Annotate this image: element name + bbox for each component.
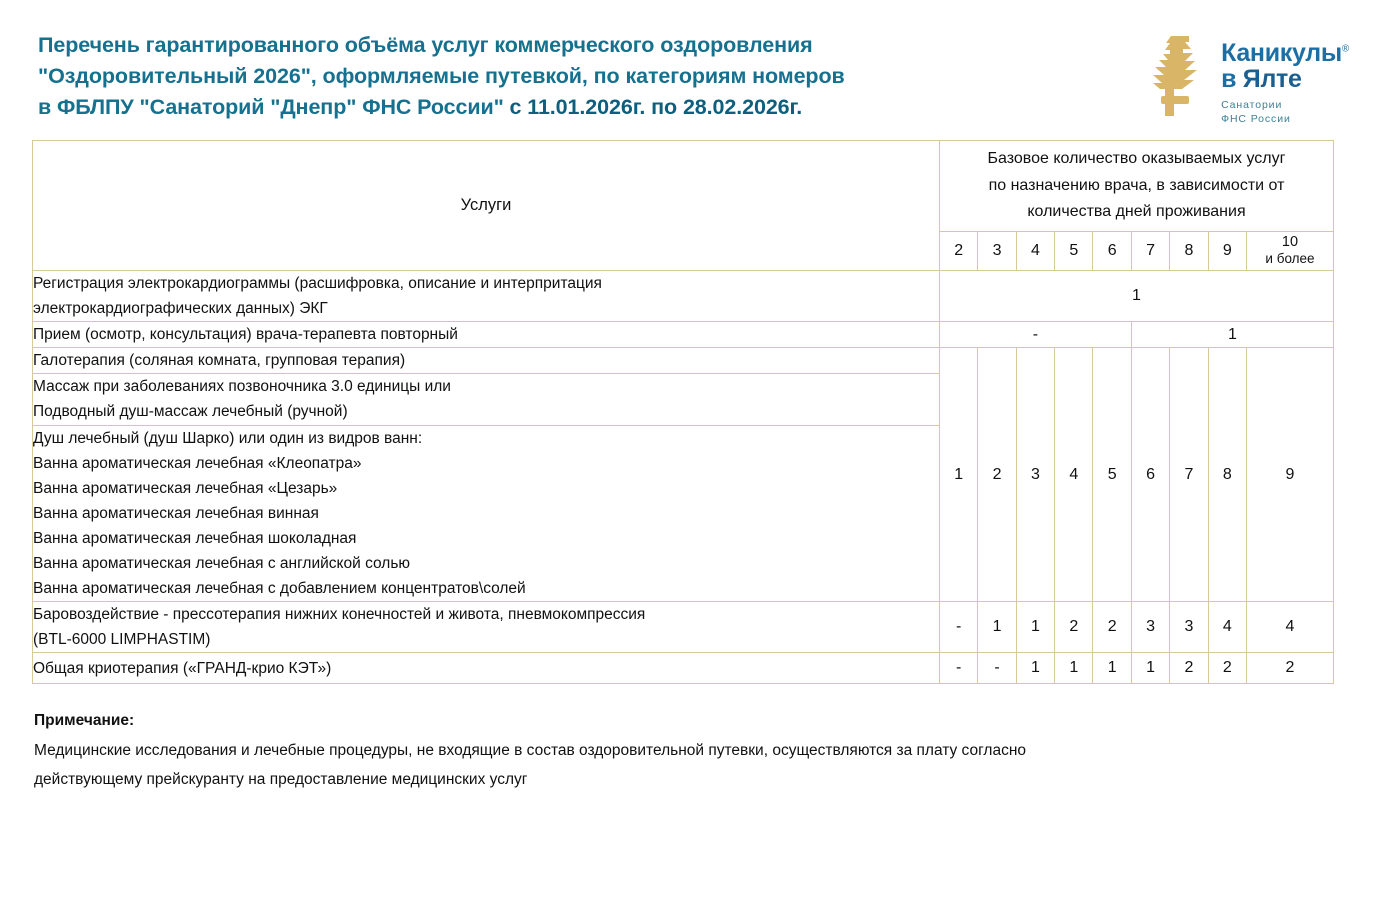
registered-trademark-icon: ® bbox=[1342, 44, 1349, 55]
value-cryotherapy-day-9: 2 bbox=[1208, 653, 1246, 684]
table-row: Прием (осмотр, консультация) врача-терап… bbox=[33, 322, 1334, 348]
value-cryotherapy-day-3: - bbox=[978, 653, 1016, 684]
logo-text: Каникулы® в Ялте Санатории ФНС России bbox=[1221, 34, 1349, 126]
value-ecg-all-days: 1 bbox=[939, 270, 1333, 321]
logo-line-2: в Ялте bbox=[1221, 66, 1349, 92]
column-header-services: Услуги bbox=[33, 140, 940, 270]
value-pressotherapy-day-5: 2 bbox=[1055, 602, 1093, 653]
service-name-therapist-repeat-line-1: Прием (осмотр, консультация) врача-терап… bbox=[33, 322, 939, 347]
footnote-title: Примечание: bbox=[34, 706, 1347, 735]
value-pressotherapy-day-10-plus: 4 bbox=[1246, 602, 1333, 653]
day-column-header-6: 6 bbox=[1093, 231, 1131, 270]
day-column-header-3: 3 bbox=[978, 231, 1016, 270]
day-column-header-10-top: 10 bbox=[1282, 234, 1298, 250]
services-table-container: Услуги Базовое количество оказываемых ус… bbox=[0, 126, 1377, 685]
service-name-ecg-line-2: электрокардиографических данных) ЭКГ bbox=[33, 296, 939, 321]
value-pressotherapy-day-6: 2 bbox=[1093, 602, 1131, 653]
table-header-row-top: Услуги Базовое количество оказываемых ус… bbox=[33, 140, 1334, 231]
service-name-baths: Душ лечебный (душ Шарко) или один из вид… bbox=[33, 425, 940, 602]
base-quantity-line-1: Базовое количество оказываемых услуг bbox=[940, 146, 1333, 172]
service-name-baths-line-7: Ванна ароматическая лечебная с добавлени… bbox=[33, 576, 939, 601]
day-column-header-4: 4 bbox=[1016, 231, 1054, 270]
day-column-header-10-bottom: и более bbox=[1247, 251, 1333, 268]
value-pressotherapy-day-3: 1 bbox=[978, 602, 1016, 653]
day-column-header-5: 5 bbox=[1055, 231, 1093, 270]
value-group-day-8: 7 bbox=[1170, 348, 1208, 602]
value-cryotherapy-day-6: 1 bbox=[1093, 653, 1131, 684]
footnote-line-2: действующему прейскуранту на предоставле… bbox=[34, 765, 1347, 794]
day-column-header-7: 7 bbox=[1131, 231, 1169, 270]
page-title-line-2: "Оздоровительный 2026", оформляемые путе… bbox=[38, 61, 845, 92]
value-pressotherapy-day-8: 3 bbox=[1170, 602, 1208, 653]
service-name-baths-line-2: Ванна ароматическая лечебная «Клеопатра» bbox=[33, 451, 939, 476]
logo-line-1: Каникулы® bbox=[1221, 40, 1349, 66]
value-group-day-4: 3 bbox=[1016, 348, 1054, 602]
day-column-header-8: 8 bbox=[1170, 231, 1208, 270]
value-cryotherapy-day-10-plus: 2 bbox=[1246, 653, 1333, 684]
page-title-line-3-prefix: в ФБЛПУ "Санаторий "Днепр" ФНС России" bbox=[38, 95, 510, 119]
page-title-line-3: в ФБЛПУ "Санаторий "Днепр" ФНС России" с… bbox=[38, 92, 845, 123]
value-pressotherapy-day-4: 1 bbox=[1016, 602, 1054, 653]
page-title-date-range: с 11.01.2026г. по 28.02.2026г. bbox=[510, 95, 803, 119]
service-name-spine-massage-line-2: Подводный душ-массаж лечебный (ручной) bbox=[33, 399, 939, 424]
logo-subtitle-line-1: Санатории bbox=[1221, 98, 1349, 112]
value-group-day-5: 4 bbox=[1055, 348, 1093, 602]
base-quantity-line-3: количества дней проживания bbox=[940, 199, 1333, 225]
service-name-ecg: Регистрация электрокардиограммы (расшифр… bbox=[33, 270, 940, 321]
table-row: Галотерапия (соляная комната, групповая … bbox=[33, 348, 1334, 374]
day-column-header-2: 2 bbox=[939, 231, 977, 270]
services-table: Услуги Базовое количество оказываемых ус… bbox=[32, 140, 1334, 685]
service-name-ecg-line-1: Регистрация электрокардиограммы (расшифр… bbox=[33, 271, 939, 296]
value-group-day-9: 8 bbox=[1208, 348, 1246, 602]
value-cryotherapy-day-4: 1 bbox=[1016, 653, 1054, 684]
service-name-pressotherapy: Баровоздействие - прессотерапия нижних к… bbox=[33, 602, 940, 653]
service-name-baths-line-6: Ванна ароматическая лечебная с английско… bbox=[33, 551, 939, 576]
table-row: Баровоздействие - прессотерапия нижних к… bbox=[33, 602, 1334, 653]
value-therapist-days-7-10: 1 bbox=[1131, 322, 1333, 348]
base-quantity-line-2: по назначению врача, в зависимости от bbox=[940, 173, 1333, 199]
value-group-day-2: 1 bbox=[939, 348, 977, 602]
cypress-tree-icon bbox=[1149, 34, 1211, 118]
service-name-cryotherapy-line-1: Общая криотерапия («ГРАНД-крио КЭТ») bbox=[33, 656, 939, 681]
service-name-cryotherapy: Общая криотерапия («ГРАНД-крио КЭТ») bbox=[33, 653, 940, 684]
service-name-spine-massage-line-1: Массаж при заболеваниях позвоночника 3.0… bbox=[33, 374, 939, 399]
value-cryotherapy-day-8: 2 bbox=[1170, 653, 1208, 684]
logo-subtitle: Санатории ФНС России bbox=[1221, 98, 1349, 126]
service-name-halotherapy-line-1: Галотерапия (соляная комната, групповая … bbox=[33, 348, 939, 373]
value-group-day-6: 5 bbox=[1093, 348, 1131, 602]
table-row: Регистрация электрокардиограммы (расшифр… bbox=[33, 270, 1334, 321]
logo-line-2-accent: Ялте bbox=[1243, 65, 1302, 93]
value-group-day-7: 6 bbox=[1131, 348, 1169, 602]
value-pressotherapy-day-2: - bbox=[939, 602, 977, 653]
page-header: Перечень гарантированного объёма услуг к… bbox=[0, 0, 1377, 126]
footnote-line-1: Медицинские исследования и лечебные проц… bbox=[34, 736, 1347, 765]
service-name-spine-massage: Массаж при заболеваниях позвоночника 3.0… bbox=[33, 374, 940, 425]
service-name-baths-line-5: Ванна ароматическая лечебная шоколадная bbox=[33, 526, 939, 551]
service-name-pressotherapy-line-1: Баровоздействие - прессотерапия нижних к… bbox=[33, 602, 939, 627]
value-pressotherapy-day-9: 4 bbox=[1208, 602, 1246, 653]
service-name-halotherapy: Галотерапия (соляная комната, групповая … bbox=[33, 348, 940, 374]
page-title-line-1: Перечень гарантированного объёма услуг к… bbox=[38, 30, 845, 61]
value-cryotherapy-day-2: - bbox=[939, 653, 977, 684]
service-name-baths-line-4: Ванна ароматическая лечебная винная bbox=[33, 501, 939, 526]
logo-line-1-text: Каникулы bbox=[1221, 39, 1342, 67]
service-name-baths-line-1: Душ лечебный (душ Шарко) или один из вид… bbox=[33, 426, 939, 451]
brand-logo: Каникулы® в Ялте Санатории ФНС России bbox=[1149, 30, 1349, 126]
service-name-pressotherapy-line-2: (BTL-6000 LIMPHASTIM) bbox=[33, 627, 939, 652]
value-group-day-10-plus: 9 bbox=[1246, 348, 1333, 602]
value-cryotherapy-day-5: 1 bbox=[1055, 653, 1093, 684]
day-column-header-10-plus: 10 и более bbox=[1246, 231, 1333, 270]
column-header-base-quantity: Базовое количество оказываемых услуг по … bbox=[939, 140, 1333, 231]
footnote: Примечание: Медицинские исследования и л… bbox=[0, 684, 1377, 794]
table-row: Общая криотерапия («ГРАНД-крио КЭТ») - -… bbox=[33, 653, 1334, 684]
logo-line-2-prefix: в bbox=[1221, 65, 1243, 93]
value-group-day-3: 2 bbox=[978, 348, 1016, 602]
value-cryotherapy-day-7: 1 bbox=[1131, 653, 1169, 684]
value-therapist-days-2-6: - bbox=[939, 322, 1131, 348]
value-pressotherapy-day-7: 3 bbox=[1131, 602, 1169, 653]
service-name-baths-line-3: Ванна ароматическая лечебная «Цезарь» bbox=[33, 476, 939, 501]
logo-subtitle-line-2: ФНС России bbox=[1221, 112, 1349, 126]
service-name-therapist-repeat: Прием (осмотр, консультация) врача-терап… bbox=[33, 322, 940, 348]
page-title: Перечень гарантированного объёма услуг к… bbox=[38, 30, 845, 124]
day-column-header-9: 9 bbox=[1208, 231, 1246, 270]
